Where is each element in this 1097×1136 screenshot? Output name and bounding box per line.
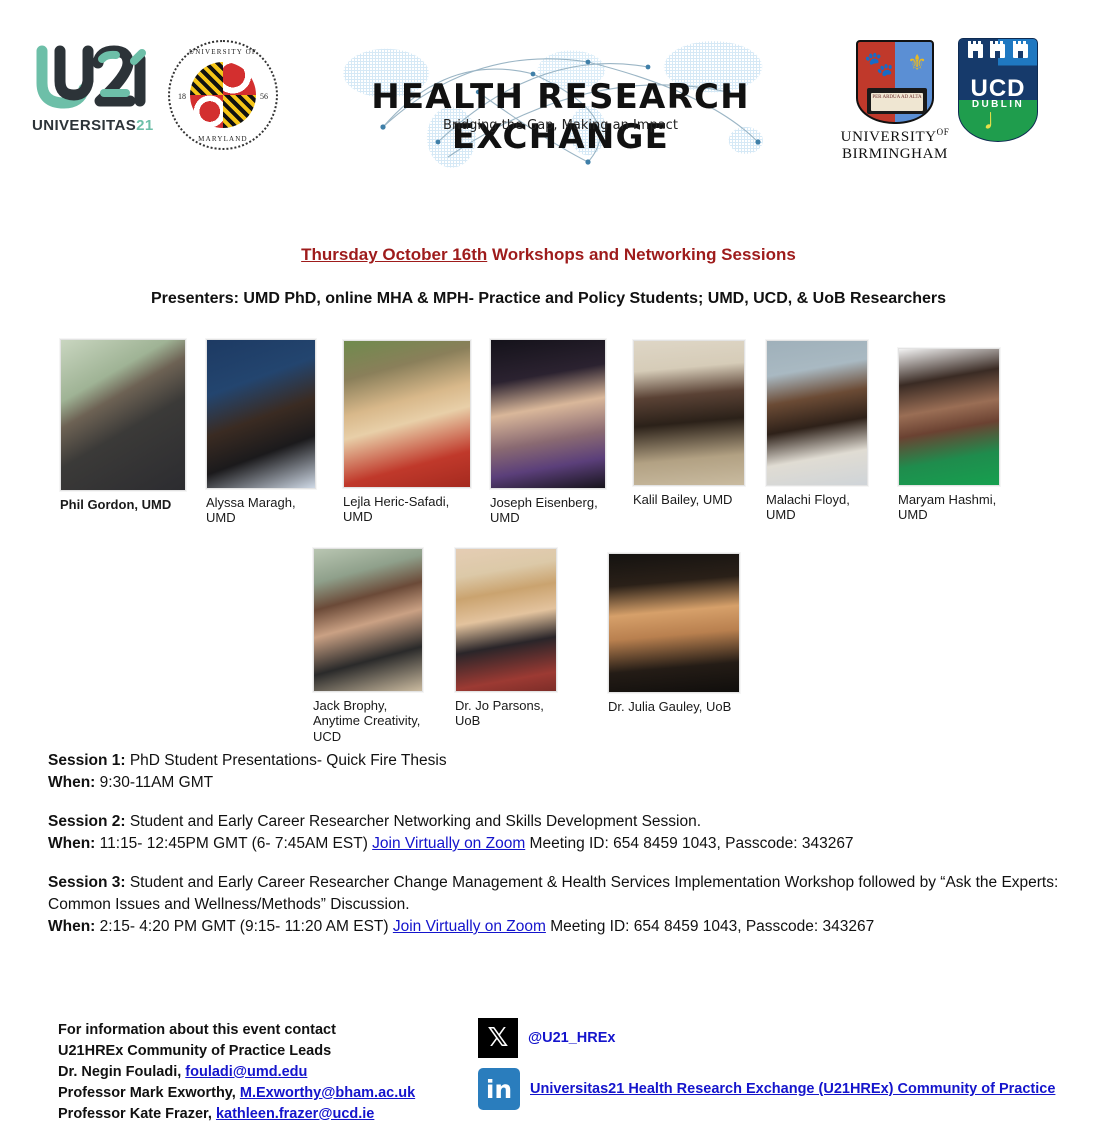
session-3-meeting-info: Meeting ID: 654 8459 1043, Passcode: 343… (546, 918, 874, 935)
session-details-block: Session 1: PhD Student Presentations- Qu… (48, 750, 1063, 938)
event-title: Thursday October 16th Workshops and Netw… (0, 245, 1097, 265)
presenter-card: Jack Brophy, Anytime Creativity, UCD (313, 548, 425, 744)
presenter-photo (343, 340, 471, 488)
session-1-when-value: 9:30-11AM GMT (95, 774, 213, 791)
castle-turret-icon (990, 44, 1005, 58)
fouladi-email-link[interactable]: fouladi@umd.edu (185, 1064, 307, 1080)
u21-wordmark: UNIVERSITAS21 (32, 117, 154, 134)
ucd-dublin-logo: UCD DUBLIN ♩ (958, 38, 1042, 148)
logo-header-bar: UNIVERSITAS21 UNIVERSITY OF MARYLAND 18 … (0, 0, 1097, 190)
x-twitter-icon[interactable]: 𝕏 (478, 1018, 518, 1058)
presenter-photo (313, 548, 423, 692)
presenter-card: Joseph Eisenberg, UMD (490, 339, 608, 526)
presenter-card: Kalil Bailey, UMD (633, 340, 747, 507)
presenter-card: Alyssa Maragh, UMD (206, 339, 318, 526)
presenter-card: Phil Gordon, UMD (60, 339, 188, 512)
presenter-photo (633, 340, 745, 486)
event-title-rest: Workshops and Networking Sessions (487, 245, 796, 264)
presenter-photo (206, 339, 316, 489)
contact-intro-line: For information about this event contact (58, 1020, 415, 1041)
session-2-title: Session 2: Student and Early Career Rese… (48, 811, 1063, 833)
umd-seal-arc-bottom: MARYLAND (170, 135, 276, 143)
contact-footer: For information about this event contact… (0, 1014, 1097, 1136)
session-1-when: When: 9:30-11AM GMT (48, 772, 1063, 794)
session-2-zoom-link[interactable]: Join Virtually on Zoom (372, 835, 525, 852)
session-3-when-value: 2:15- 4:20 PM GMT (9:15- 11:20 AM EST) (95, 918, 393, 935)
presenter-photo (766, 340, 868, 486)
session-2-when: When: 11:15- 12:45PM GMT (6- 7:45AM EST)… (48, 833, 1063, 855)
presenter-photo-row-2: Jack Brophy, Anytime Creativity, UCD Dr.… (0, 546, 1097, 741)
session-3-description: Student and Early Career Researcher Chan… (48, 874, 1058, 913)
u21-logo: UNIVERSITAS21 (30, 45, 160, 145)
presenter-photo (608, 553, 740, 693)
university-of-maryland-seal-logo: UNIVERSITY OF MARYLAND 18 56 (168, 40, 278, 150)
session-2-label: Session 2: (48, 813, 126, 830)
umd-seal-year-left: 18 (178, 92, 186, 101)
presenter-name: Jack Brophy, Anytime Creativity, UCD (313, 698, 425, 744)
presenter-card: Malachi Floyd, UMD (766, 340, 870, 523)
linkedin-icon[interactable]: in (478, 1068, 520, 1110)
session-1-when-label: When: (48, 774, 95, 791)
contact-frazer: Professor Kate Frazer, kathleen.frazer@u… (58, 1104, 415, 1125)
contact-exworthy: Professor Mark Exworthy, M.Exworthy@bham… (58, 1083, 415, 1104)
health-research-exchange-logo: HEALTH RESEARCH EXCHANGE Bridging the Ga… (288, 22, 833, 182)
session-3-when: When: 2:15- 4:20 PM GMT (9:15- 11:20 AM … (48, 916, 1063, 938)
linkedin-page-label[interactable]: Universitas21 Health Research Exchange (… (530, 1081, 1055, 1097)
presenter-name: Kalil Bailey, UMD (633, 492, 747, 507)
presenter-name: Malachi Floyd, UMD (766, 492, 870, 523)
presenter-card: Lejla Heric-Safadi, UMD (343, 340, 473, 525)
session-2-meeting-info: Meeting ID: 654 8459 1043, Passcode: 343… (525, 835, 853, 852)
hrex-title: HEALTH RESEARCH EXCHANGE (288, 77, 833, 157)
session-3-label: Session 3: (48, 874, 126, 891)
contact-info-block: For information about this event contact… (58, 1020, 415, 1124)
presenter-card: Dr. Julia Gauley, UoB (608, 553, 742, 714)
presenter-photo (898, 348, 1000, 486)
harp-icon: ♩ (959, 105, 1037, 135)
session-1-label: Session 1: (48, 752, 126, 769)
umd-seal-arc-top: UNIVERSITY OF (170, 48, 276, 56)
linkedin-social-row[interactable]: in Universitas21 Health Research Exchang… (478, 1068, 1055, 1110)
contact-fouladi: Dr. Negin Fouladi, fouladi@umd.edu (58, 1062, 415, 1083)
session-1-description: PhD Student Presentations- Quick Fire Th… (126, 752, 447, 769)
u21-mark-icon (30, 45, 160, 113)
ucd-shield-icon: UCD DUBLIN ♩ (958, 38, 1038, 142)
session-3-title: Session 3: Student and Early Career Rese… (48, 872, 1063, 916)
presenter-photo (490, 339, 606, 489)
presenter-name: Phil Gordon, UMD (60, 497, 188, 512)
uob-book-motto: PER ARDUA AD ALTA (871, 93, 923, 111)
presenter-card: Dr. Jo Parsons, UoB (455, 548, 559, 729)
castle-turret-icon (1013, 44, 1028, 58)
x-social-row[interactable]: 𝕏 @U21_HREx (478, 1018, 1055, 1058)
x-handle-label[interactable]: @U21_HREx (528, 1030, 615, 1046)
presenter-photo-row-1: Phil Gordon, UMD Alyssa Maragh, UMD Lejl… (0, 336, 1097, 536)
contact-leads-line: U21HREx Community of Practice Leads (58, 1041, 415, 1062)
birmingham-crest-icon: 🐾 ⚜ PER ARDUA AD ALTA (856, 40, 934, 124)
castle-turret-icon (968, 44, 983, 58)
session-2-when-value: 11:15- 12:45PM GMT (6- 7:45AM EST) (95, 835, 372, 852)
presenters-line: Presenters: UMD PhD, online MHA & MPH- P… (0, 290, 1097, 308)
presenter-name: Lejla Heric-Safadi, UMD (343, 494, 473, 525)
uob-wordmark: UNIVERSITYOF BIRMINGHAM (840, 127, 950, 163)
presenter-name: Maryam Hashmi, UMD (898, 492, 1002, 523)
presenter-photo (455, 548, 557, 692)
presenter-name: Dr. Jo Parsons, UoB (455, 698, 559, 729)
frazer-email-link[interactable]: kathleen.frazer@ucd.ie (216, 1106, 374, 1122)
event-date: Thursday October 16th (301, 245, 487, 264)
umd-seal-year-right: 56 (260, 92, 268, 101)
presenter-name: Joseph Eisenberg, UMD (490, 495, 608, 526)
session-3-zoom-link[interactable]: Join Virtually on Zoom (393, 918, 546, 935)
session-2-when-label: When: (48, 835, 95, 852)
university-of-birmingham-logo: 🐾 ⚜ PER ARDUA AD ALTA UNIVERSITYOF BIRMI… (840, 40, 950, 170)
social-links-block: 𝕏 @U21_HREx in Universitas21 Health Rese… (478, 1018, 1055, 1120)
hrex-tagline: Bridging the Gap, Making an Impact (288, 118, 833, 133)
presenter-name: Dr. Julia Gauley, UoB (608, 699, 742, 714)
session-3-when-label: When: (48, 918, 95, 935)
presenter-photo (60, 339, 186, 491)
exworthy-email-link[interactable]: M.Exworthy@bham.ac.uk (240, 1085, 415, 1101)
presenter-name: Alyssa Maragh, UMD (206, 495, 318, 526)
session-1-title: Session 1: PhD Student Presentations- Qu… (48, 750, 1063, 772)
presenter-card: Maryam Hashmi, UMD (898, 348, 1002, 523)
session-2-description: Student and Early Career Researcher Netw… (126, 813, 702, 830)
